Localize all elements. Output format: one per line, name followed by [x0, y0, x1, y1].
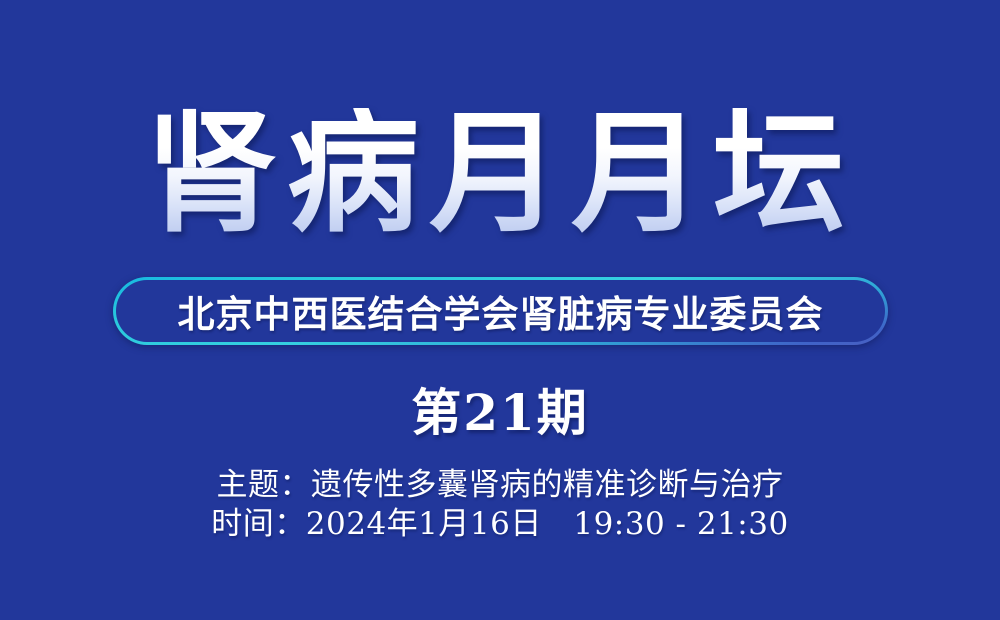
organization-name: 北京中西医结合学会肾脏病专业委员会	[178, 284, 824, 338]
poster-root: 肾病月月坛 北京中西医结合学会肾脏病专业委员会 第21期 主题：遗传性多囊肾病的…	[0, 0, 1000, 620]
page-title: 肾病月月坛	[145, 108, 855, 240]
organization-badge: 北京中西医结合学会肾脏病专业委员会	[113, 277, 888, 345]
poster-title-block: 肾病月月坛	[0, 108, 1000, 240]
event-topic: 主题：遗传性多囊肾病的精准诊断与治疗	[0, 466, 1000, 505]
event-details: 主题：遗传性多囊肾病的精准诊断与治疗 时间：2024年1月16日 19:30 -…	[0, 466, 1000, 544]
event-time: 时间：2024年1月16日 19:30 - 21:30	[0, 505, 1000, 544]
organization-badge-inner: 北京中西医结合学会肾脏病专业委员会	[116, 280, 885, 342]
issue-number: 第21期	[0, 385, 1000, 440]
organization-badge-border: 北京中西医结合学会肾脏病专业委员会	[113, 277, 888, 345]
